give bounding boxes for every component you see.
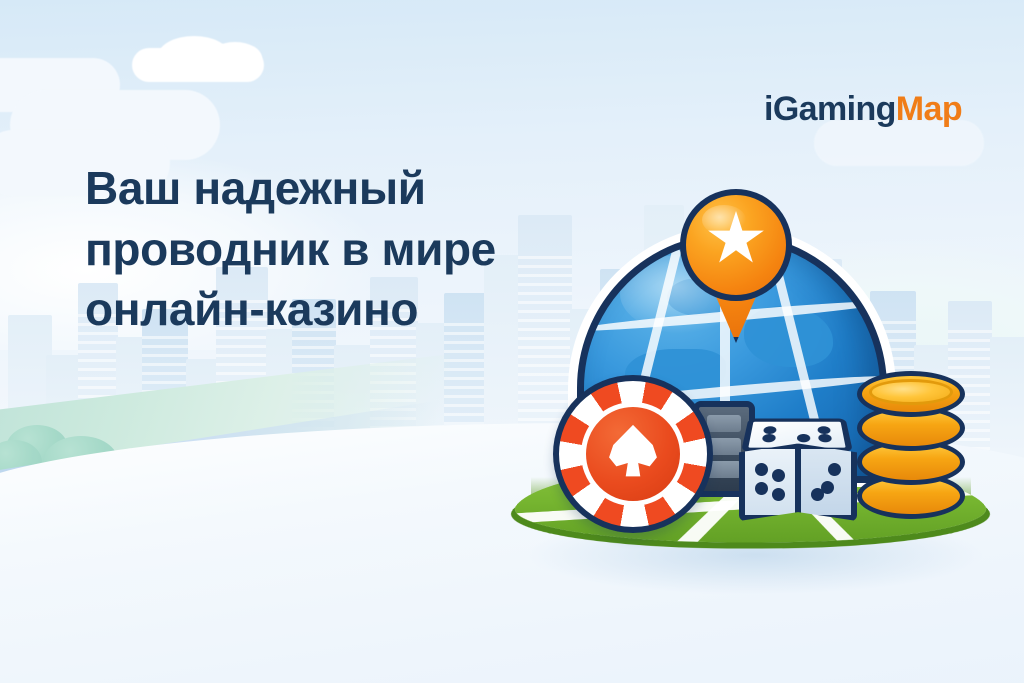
hero-banner: iGamingMap Ваш надежный проводник в мире…	[0, 0, 1024, 683]
dice-face-right	[795, 443, 857, 521]
brand-logo[interactable]: iGamingMap	[764, 92, 962, 126]
page-title: Ваш надежный проводник в мире онлайн-каз…	[85, 158, 515, 340]
logo-text-primary: iGaming	[764, 90, 896, 128]
headline-line-3: онлайн-казино	[85, 279, 515, 340]
poker-chip	[553, 375, 713, 533]
coin-stack	[857, 367, 969, 519]
map-pin-star-icon	[680, 189, 792, 349]
dice-icon	[737, 407, 861, 527]
coin	[857, 371, 965, 417]
dice-face-left	[739, 443, 801, 521]
slot-reel	[707, 415, 741, 432]
headline-line-2: проводник в мире	[85, 219, 515, 280]
hero-illustration	[505, 195, 1005, 605]
headline-line-1: Ваш надежный	[85, 158, 515, 219]
coin-face	[869, 379, 953, 405]
logo-text-accent: Map	[896, 90, 962, 128]
cloud-3	[208, 42, 262, 74]
